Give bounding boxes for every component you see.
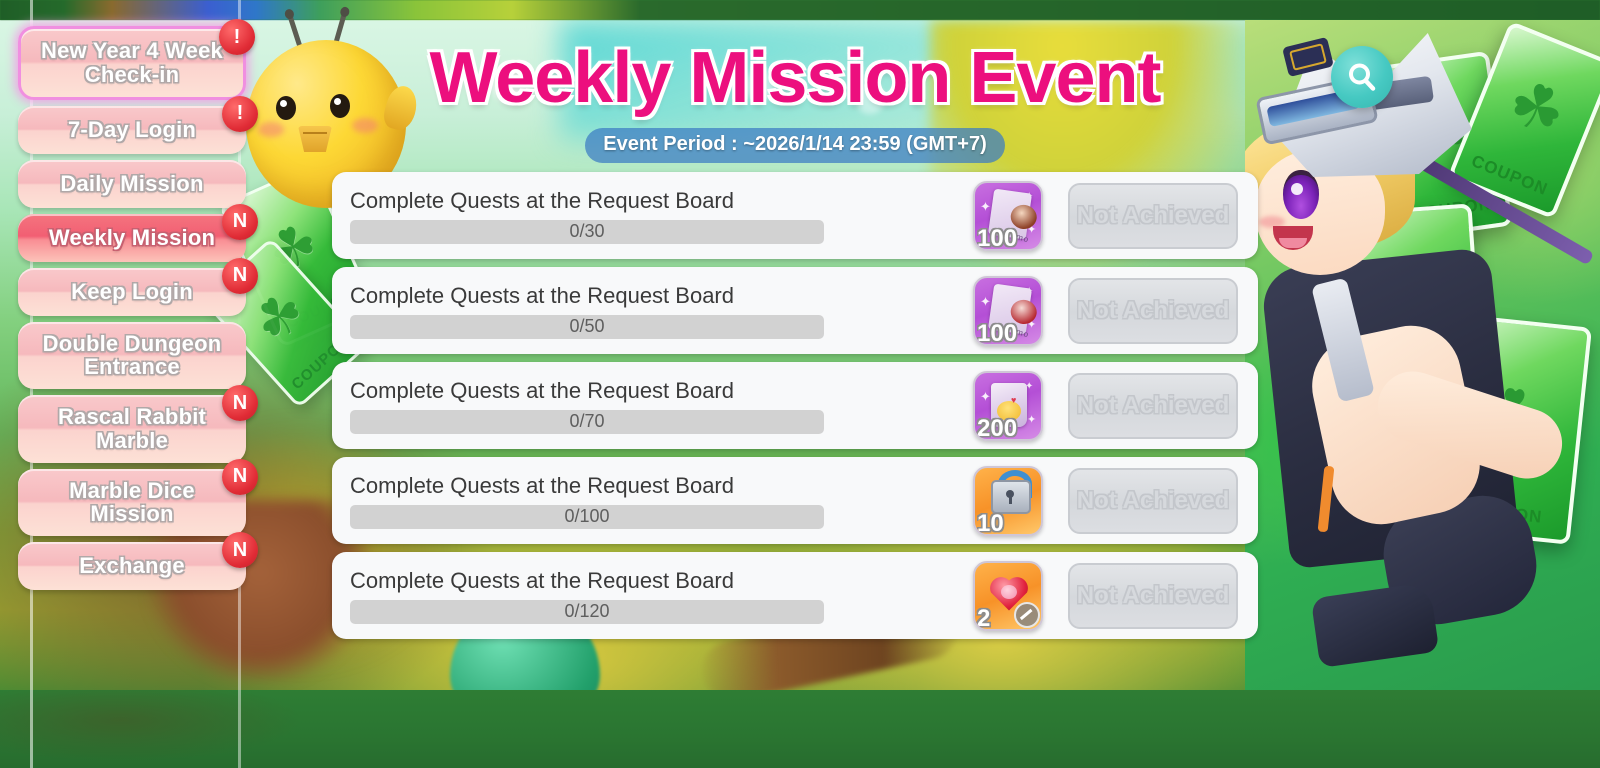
reward-count: 100 [977,320,1017,346]
sidebar-item-label: Weekly Mission [49,226,215,250]
mission-title: Complete Quests at the Request Board [350,378,948,404]
progress-text: 0/30 [569,221,604,242]
claim-button[interactable]: Not Achieved [1068,183,1238,249]
sidebar-item-label: Double Dungeon Entrance [34,332,230,380]
reward-count: 100 [977,225,1017,251]
claim-button-label: Not Achieved [1077,297,1229,325]
mission-reward[interactable]: 10 [958,466,1058,536]
sidebar-item-label: Rascal Rabbit Marble [34,405,230,453]
no-trade-icon [1014,602,1040,628]
reward-count: 10 [977,510,1004,536]
sidebar-item-label: 7-Day Login [68,118,196,142]
sidebar-item-weekly-mission[interactable]: Weekly MissionN [18,214,246,262]
progress-text: 0/70 [569,411,604,432]
mission-info: Complete Quests at the Request Board0/10… [332,473,958,529]
event-screen: ☘ COUPON ☘ COUPON ☘ COUPON ☘ COUPON ☘ CO… [0,0,1600,768]
progress-text: 0/100 [564,506,609,527]
claim-button[interactable]: Not Achieved [1068,468,1238,534]
mission-info: Complete Quests at the Request Board0/30 [332,188,958,244]
padlock-keyhole [1006,490,1014,498]
reward-count: 2 [977,605,990,631]
chick-cheek-left [258,122,284,137]
claim-button[interactable]: Not Achieved [1068,278,1238,344]
mission-row: Complete Quests at the Request Board0/30… [332,172,1258,259]
gem-creature [1001,585,1017,599]
event-sidebar: New Year 4 Week Check-in!7-Day Login!Dai… [18,26,248,596]
sidebar-item-daily-mission[interactable]: Daily Mission [18,160,246,208]
mission-reward[interactable]: ✦✦✦kamo100 [958,276,1058,346]
sidebar-item-keep-login[interactable]: Keep LoginN [18,268,246,316]
alert-badge: ! [219,19,255,55]
mission-reward[interactable]: 2 [958,561,1058,631]
sidebar-item-label: Keep Login [71,280,193,304]
reward-item-icon[interactable]: ✦✦✦kamo100 [973,276,1043,346]
mission-info: Complete Quests at the Request Board0/70 [332,378,958,434]
sidebar-item-label: Marble Dice Mission [34,479,230,527]
claim-button-label: Not Achieved [1077,202,1229,230]
mission-title: Complete Quests at the Request Board [350,473,948,499]
witch-girl-character [1245,30,1555,670]
sidebar-item-label: Daily Mission [60,172,203,196]
claim-button-label: Not Achieved [1077,582,1229,610]
reward-item-icon[interactable]: 2 [973,561,1043,631]
new-badge: N [222,459,258,495]
event-period-text: Event Period : ~2026/1/14 23:59 (GMT+7) [585,128,1005,163]
reward-count: 200 [977,415,1017,441]
new-badge: N [222,385,258,421]
mission-progress-bar: 0/70 [350,410,824,434]
sparkle-icon: ✦ [980,294,991,310]
claim-button[interactable]: Not Achieved [1068,563,1238,629]
mission-title: Complete Quests at the Request Board [350,283,948,309]
character-boot [1311,582,1440,668]
mission-title: Complete Quests at the Request Board [350,568,948,594]
sidebar-item-rascal-rabbit-marble[interactable]: Rascal Rabbit MarbleN [18,395,246,463]
mission-reward[interactable]: ✦✦✦kamo100 [958,181,1058,251]
sidebar-item-label: Exchange [79,554,185,578]
mission-row: Complete Quests at the Request Board0/70… [332,362,1258,449]
mission-list: Complete Quests at the Request Board0/30… [332,172,1258,647]
alert-badge: ! [222,96,258,132]
mission-row: Complete Quests at the Request Board0/50… [332,267,1258,354]
sidebar-item-7-day-login[interactable]: 7-Day Login! [18,106,246,154]
character-eye [1283,170,1319,219]
search-icon [1345,60,1379,94]
sidebar-item-double-dungeon-entrance[interactable]: Double Dungeon Entrance [18,322,246,390]
mission-status: Not Achieved [1058,563,1258,629]
mission-row: Complete Quests at the Request Board0/10… [332,457,1258,544]
event-period: Event Period : ~2026/1/14 23:59 (GMT+7) [330,128,1260,163]
sidebar-item-marble-dice-mission[interactable]: Marble Dice MissionN [18,469,246,537]
mission-status: Not Achieved [1058,373,1258,439]
reward-item-icon[interactable]: ✦✦✦kamo100 [973,181,1043,251]
heart-icon: ♥ [1011,395,1016,405]
sparkle-icon: ✦ [980,389,991,405]
mission-status: Not Achieved [1058,183,1258,249]
character-artwork-panel: ☘ COUPON ☘ COUPON ☘ COUPON ☘ COUPON [1245,20,1600,690]
sidebar-item-exchange[interactable]: ExchangeN [18,542,246,590]
mission-row: Complete Quests at the Request Board0/12… [332,552,1258,639]
mission-progress-bar: 0/30 [350,220,824,244]
claim-button-label: Not Achieved [1077,487,1229,515]
progress-text: 0/120 [564,601,609,622]
mission-info: Complete Quests at the Request Board0/50 [332,283,958,339]
new-badge: N [222,258,258,294]
mission-progress-bar: 0/120 [350,600,824,624]
reward-item-icon[interactable]: ✦✦✦♥200 [973,371,1043,441]
mission-status: Not Achieved [1058,278,1258,344]
mission-progress-bar: 0/100 [350,505,824,529]
mission-title: Complete Quests at the Request Board [350,188,948,214]
progress-text: 0/50 [569,316,604,337]
sparkle-icon: ✦ [980,199,991,215]
page-title: Weekly Mission Event [330,42,1260,114]
mission-progress-bar: 0/50 [350,315,824,339]
sidebar-item-label: New Year 4 Week Check-in [37,39,227,87]
new-badge: N [222,532,258,568]
reward-item-icon[interactable]: 10 [973,466,1043,536]
claim-button-label: Not Achieved [1077,392,1229,420]
sidebar-item-new-year-4-week-check-in[interactable]: New Year 4 Week Check-in! [18,26,246,100]
mission-info: Complete Quests at the Request Board0/12… [332,568,958,624]
mission-reward[interactable]: ✦✦✦♥200 [958,371,1058,441]
mission-status: Not Achieved [1058,468,1258,534]
claim-button[interactable]: Not Achieved [1068,373,1238,439]
chick-eye-left [276,96,296,120]
new-badge: N [222,204,258,240]
search-button[interactable] [1331,46,1393,108]
sparkle-icon: ✦ [1027,413,1036,426]
